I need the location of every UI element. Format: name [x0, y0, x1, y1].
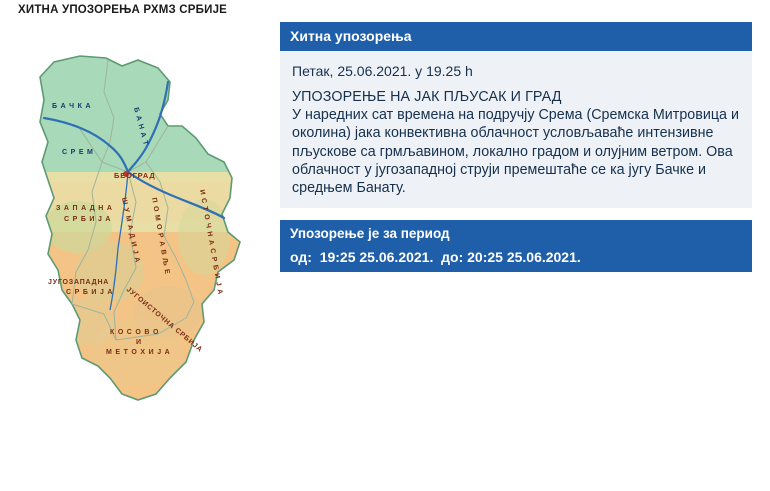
alert-header-bar: Хитна упозорења [280, 22, 752, 51]
map-label-srem: С Р Е М [62, 149, 94, 156]
map-label-jugozapadna-srbija-1: ЈУГОЗАПАДНА [48, 279, 109, 286]
map-label-zapadna-srbija-1: З А П А Д Н А [56, 205, 113, 212]
map-label-backa: Б А Ч К А [52, 103, 91, 110]
map-label-kosovo-3: М Е Т О Х И Ј А [106, 349, 170, 356]
page-title: ХИТНА УПОЗОРЕЊА РХМЗ СРБИЈЕ [18, 4, 227, 16]
map-svg: Б А Ч К А Б А Н А Т С Р Е М БЕОГРАД З А … [18, 22, 268, 450]
alert-body: Петак, 25.06.2021. у 19.25 h УПОЗОРЕЊЕ Н… [280, 51, 752, 207]
serbia-regions-map: Б А Ч К А Б А Н А Т С Р Е М БЕОГРАД З А … [18, 22, 268, 450]
map-label-zapadna-srbija-2: С Р Б И Ј А [64, 216, 111, 223]
map-region-fills [18, 22, 268, 450]
alert-text: У наредних сат времена на подручју Срема… [290, 106, 742, 197]
alert-heading: УПОЗОРЕЊЕ НА ЈАК ПЉУСАК И ГРАД [290, 89, 742, 106]
alert-panel: Хитна упозорења Петак, 25.06.2021. у 19.… [280, 22, 752, 272]
map-label-jugozapadna-srbija-2: С Р Б И Ј А [66, 289, 113, 296]
map-label-kosovo-2: И [136, 339, 142, 346]
alert-period-range: од: 19:25 25.06.2021. до: 20:25 25.06.20… [280, 248, 752, 272]
alert-datetime: Петак, 25.06.2021. у 19.25 h [290, 60, 742, 89]
map-label-belgrade: БЕОГРАД [114, 171, 155, 180]
alert-period-label: Упозорење је за период [280, 220, 752, 249]
map-label-kosovo-1: К О С О В О [110, 329, 159, 336]
